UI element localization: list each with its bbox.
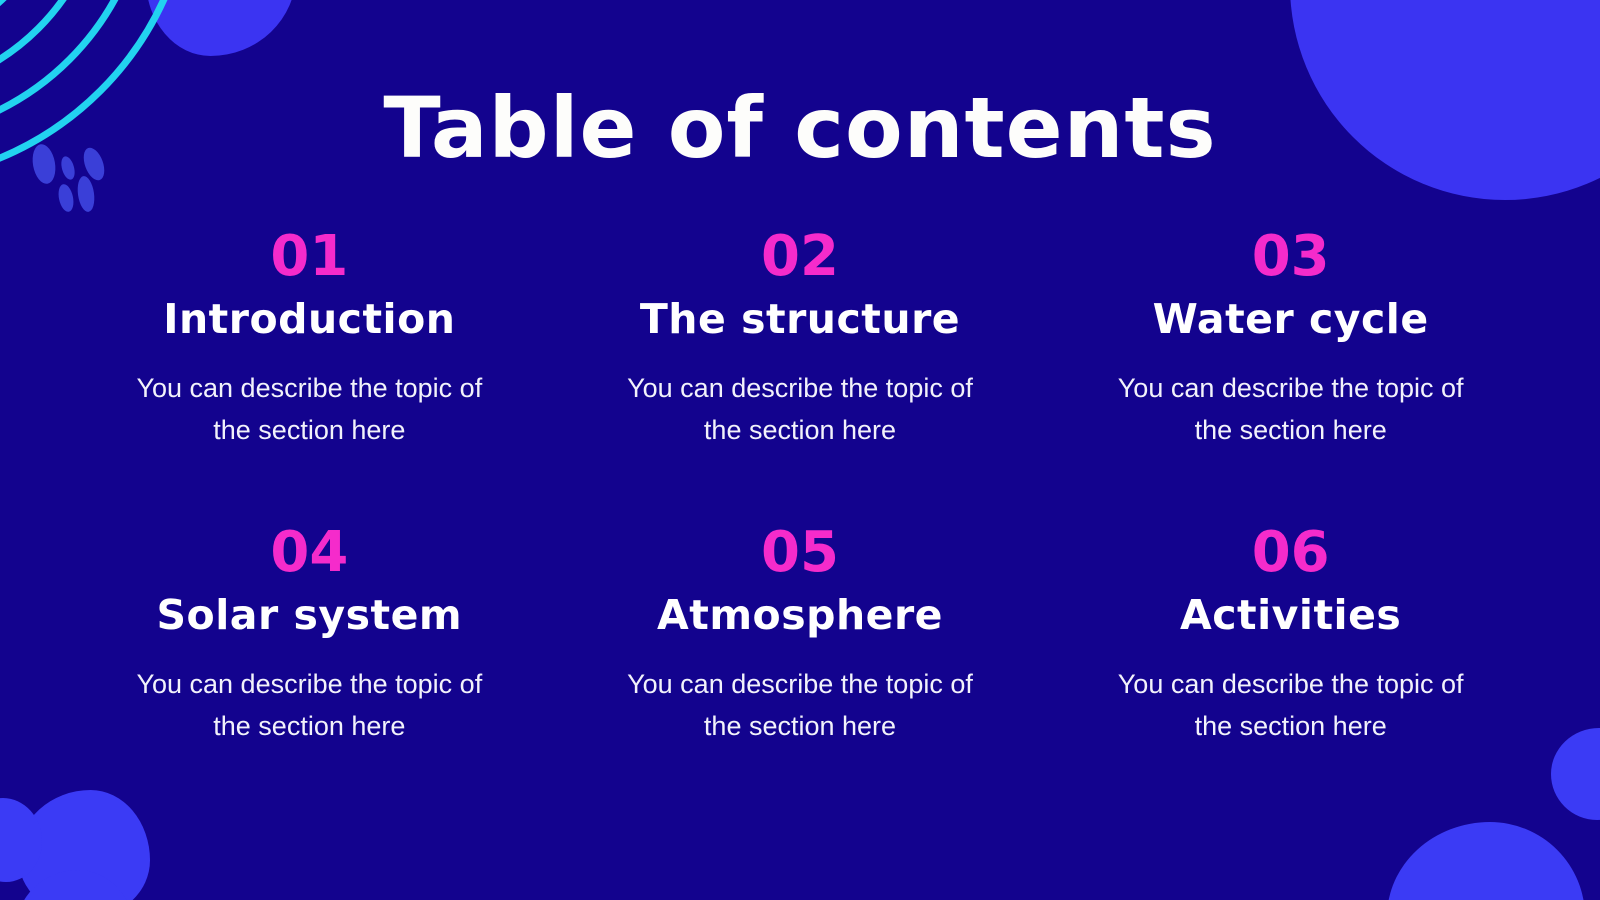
toc-heading: Water cycle xyxy=(1063,297,1518,342)
toc-description: You can describe the topic of the sectio… xyxy=(129,368,489,452)
toc-heading: Activities xyxy=(1063,593,1518,638)
slide-content: Table of contents 01 Introduction You ca… xyxy=(0,0,1600,900)
toc-number: 04 xyxy=(82,524,537,583)
toc-item-01[interactable]: 01 Introduction You can describe the top… xyxy=(64,228,555,524)
toc-item-02[interactable]: 02 The structure You can describe the to… xyxy=(555,228,1046,524)
toc-heading: Introduction xyxy=(82,297,537,342)
toc-number: 01 xyxy=(82,228,537,287)
toc-item-06[interactable]: 06 Activities You can describe the topic… xyxy=(1045,524,1536,820)
toc-number: 05 xyxy=(573,524,1028,583)
toc-item-05[interactable]: 05 Atmosphere You can describe the topic… xyxy=(555,524,1046,820)
toc-heading: Atmosphere xyxy=(573,593,1028,638)
toc-number: 06 xyxy=(1063,524,1518,583)
toc-description: You can describe the topic of the sectio… xyxy=(1111,664,1471,748)
toc-number: 03 xyxy=(1063,228,1518,287)
table-of-contents-grid: 01 Introduction You can describe the top… xyxy=(64,228,1536,820)
toc-heading: The structure xyxy=(573,297,1028,342)
toc-description: You can describe the topic of the sectio… xyxy=(1111,368,1471,452)
toc-item-03[interactable]: 03 Water cycle You can describe the topi… xyxy=(1045,228,1536,524)
toc-heading: Solar system xyxy=(82,593,537,638)
slide-canvas: Table of contents 01 Introduction You ca… xyxy=(0,0,1600,900)
toc-number: 02 xyxy=(573,228,1028,287)
toc-item-04[interactable]: 04 Solar system You can describe the top… xyxy=(64,524,555,820)
toc-description: You can describe the topic of the sectio… xyxy=(620,368,980,452)
toc-description: You can describe the topic of the sectio… xyxy=(620,664,980,748)
toc-description: You can describe the topic of the sectio… xyxy=(129,664,489,748)
page-title: Table of contents xyxy=(0,86,1600,170)
